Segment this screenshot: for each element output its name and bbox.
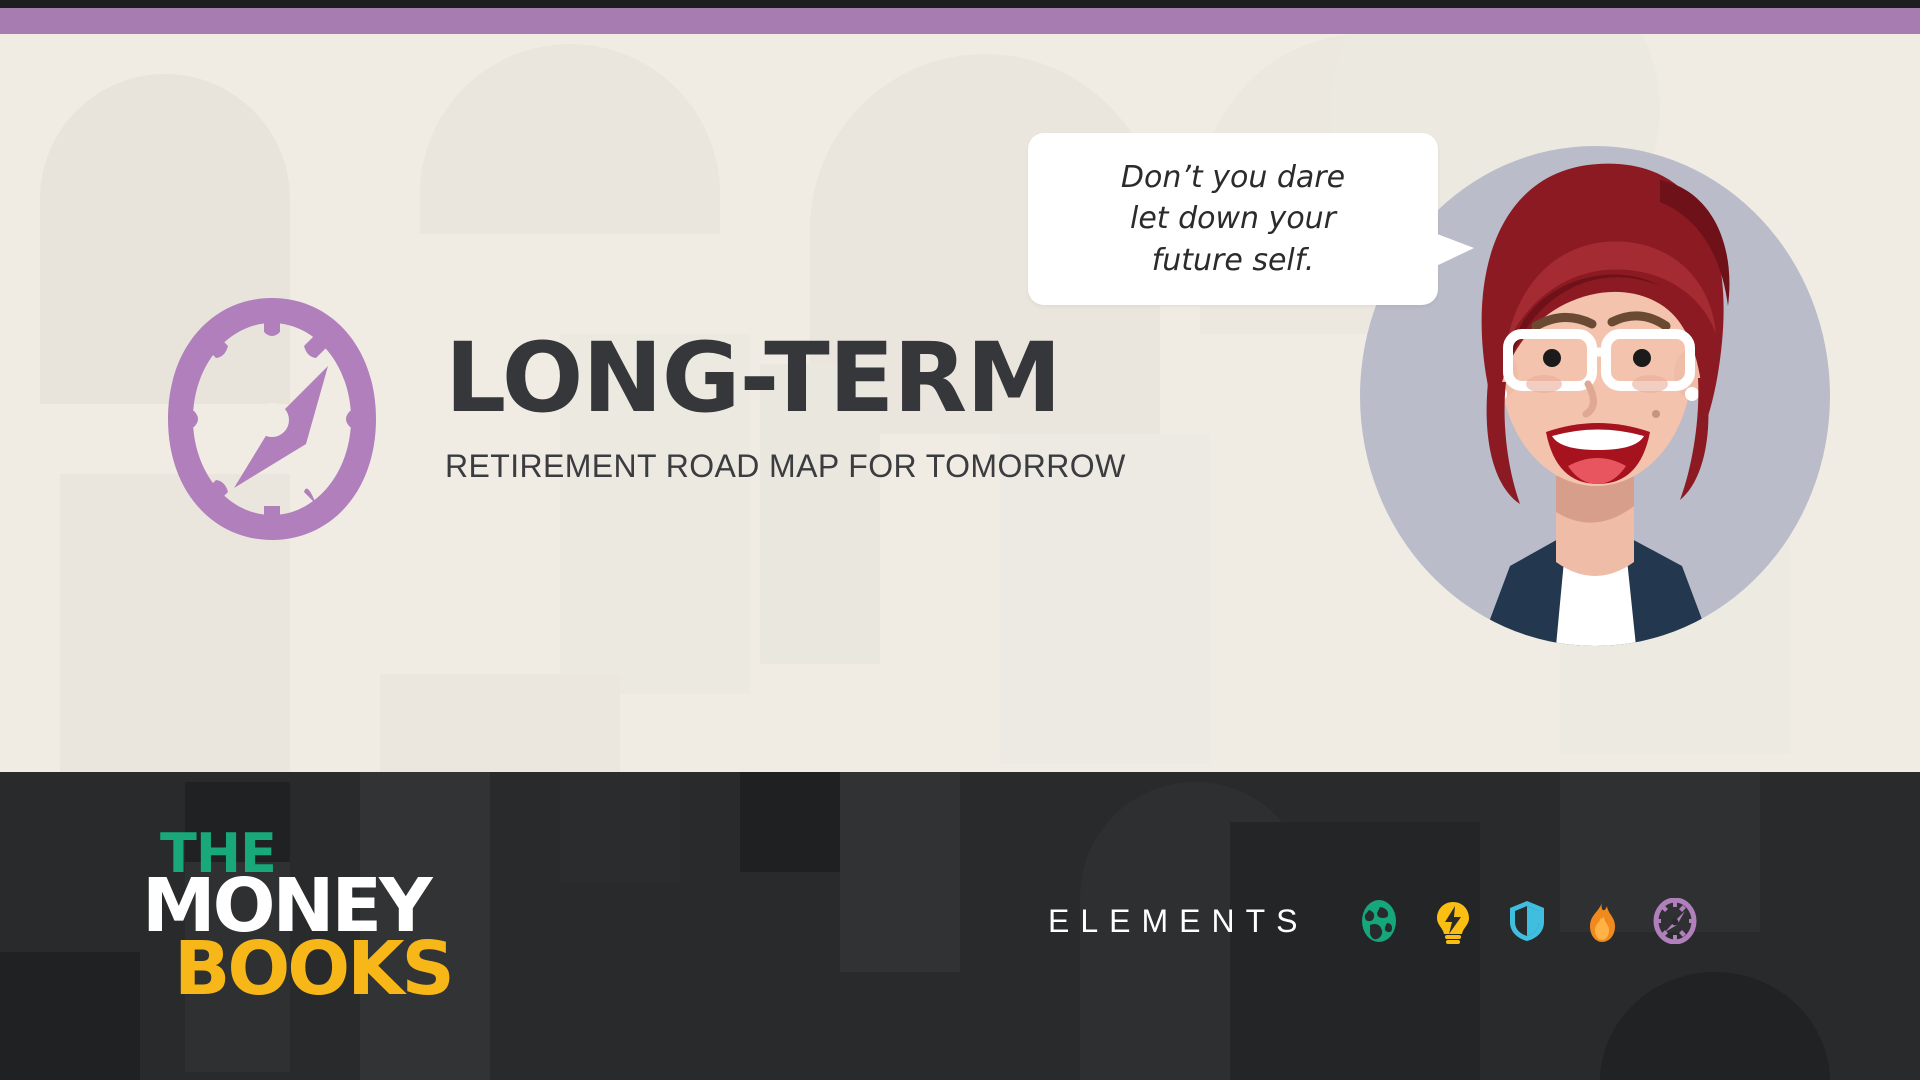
page-title: LONG-TERM [445, 330, 1126, 428]
speech-bubble: Don’t you dare let down your future self… [1028, 133, 1438, 305]
top-black-strip [0, 0, 1920, 8]
elements-label: ELEMENTS [1048, 903, 1308, 940]
speech-line-3: future self. [1152, 240, 1315, 281]
page-subtitle: RETIREMENT ROAD MAP FOR TOMORROW [445, 448, 1126, 485]
bg-arch-shape [420, 44, 720, 234]
elements-icon-group [1356, 898, 1698, 944]
elements-row: ELEMENTS [1048, 898, 1698, 944]
footer-bg-shape [1230, 822, 1480, 1080]
brand-logo[interactable]: THE MONEY BOOKS [148, 832, 458, 1004]
shield-icon[interactable] [1504, 898, 1550, 944]
top-accent-bar [0, 8, 1920, 34]
title-block: LONG-TERM RETIREMENT ROAD MAP FOR TOMORR… [445, 330, 1126, 485]
speech-bubble-text: Don’t you dare let down your future self… [1028, 133, 1438, 305]
lightbulb-icon[interactable] [1430, 898, 1476, 944]
speech-bubble-tail [1432, 232, 1474, 268]
flame-icon[interactable] [1578, 898, 1624, 944]
slide-canvas: LONG-TERM RETIREMENT ROAD MAP FOR TOMORR… [0, 0, 1920, 1080]
bg-rect-shape [380, 674, 620, 772]
footer-bg-shape [560, 772, 680, 882]
speech-line-2: let down your [1130, 198, 1336, 239]
footer-bg-shape [840, 772, 960, 972]
logo-line-books: BOOKS [174, 937, 458, 1002]
footer-bg-shape [740, 772, 855, 872]
footer-bg-shape [0, 952, 140, 1080]
compass-icon[interactable] [1652, 898, 1698, 944]
compass-icon [152, 294, 392, 544]
speech-line-1: Don’t you dare [1121, 157, 1345, 198]
footer-bg-shape [1600, 972, 1830, 1080]
globe-icon[interactable] [1356, 898, 1402, 944]
